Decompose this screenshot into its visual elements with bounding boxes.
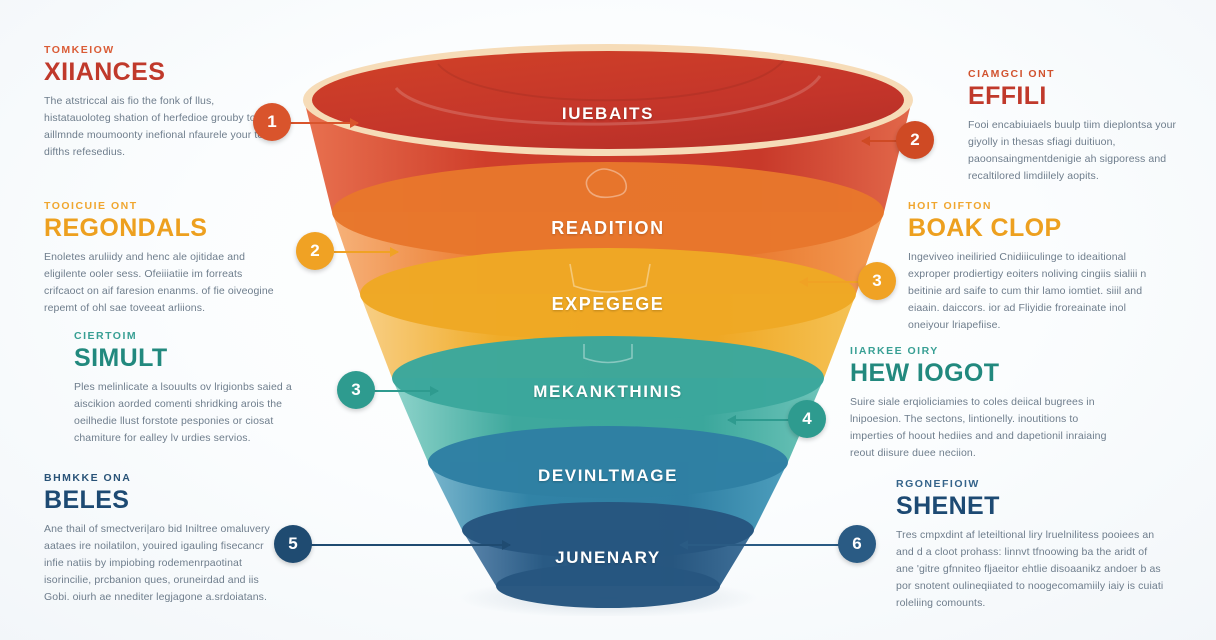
- marker-5[interactable]: 3: [337, 371, 375, 409]
- arrow-right-icon: [350, 118, 359, 128]
- callout-6: IIARKEE OIRY HEW IOGOT Suire siale erqio…: [850, 345, 1115, 462]
- funnel-diagram: IUEBAITS READITION EXPEGEGE MEKANKTHINIS…: [288, 26, 928, 616]
- marker-2[interactable]: 2: [896, 121, 934, 159]
- callout-4-headline: BOAK CLOP: [908, 215, 1166, 242]
- callout-4-eyebrow: HOIT OIFTON: [908, 200, 1166, 212]
- callout-3-eyebrow: TOOICUIE ONT: [44, 200, 279, 212]
- marker-7[interactable]: 5: [274, 525, 312, 563]
- callout-3: TOOICUIE ONT REGONDALS Enoletes aruliidy…: [44, 200, 279, 317]
- callout-1-eyebrow: TOMKEIOW: [44, 44, 279, 56]
- connector-8: [680, 544, 842, 546]
- callout-7-body: Ane thail of smectveri|aro bid Iniltree …: [44, 521, 279, 606]
- callout-2-headline: EFFILI: [968, 83, 1203, 110]
- callout-8-body: Tres cmpxdint af leteiltional liry lruel…: [896, 527, 1164, 612]
- arrow-left-icon: [727, 415, 736, 425]
- callout-1-body: The atstriccal ais fio the fonk of llus,…: [44, 93, 279, 161]
- callout-1-headline: XIIANCES: [44, 59, 279, 86]
- callout-4-body: Ingeviveo ineiliried Cnidiiiculinge to i…: [908, 249, 1166, 334]
- callout-5: CIERTOIM SIMULT Ples melinlicate a lsouu…: [74, 330, 309, 447]
- callout-6-body: Suire siale erqioliciamies to coles deii…: [850, 394, 1115, 462]
- funnel-shape: [288, 26, 928, 616]
- callout-3-body: Enoletes aruliidy and henc ale ojitidae …: [44, 249, 279, 317]
- callout-6-eyebrow: IIARKEE OIRY: [850, 345, 1115, 357]
- callout-2: CIAMGCI ONT EFFILI Fooi encabiuiaels buu…: [968, 68, 1203, 185]
- callout-7: BHMKKE ONA BELES Ane thail of smectveri|…: [44, 472, 279, 606]
- arrow-right-icon: [502, 540, 511, 550]
- infographic-canvas: IUEBAITS READITION EXPEGEGE MEKANKTHINIS…: [0, 0, 1216, 640]
- callout-7-headline: BELES: [44, 487, 279, 514]
- marker-6[interactable]: 4: [788, 400, 826, 438]
- marker-8[interactable]: 6: [838, 525, 876, 563]
- callout-5-eyebrow: CIERTOIM: [74, 330, 309, 342]
- arrow-left-icon: [799, 277, 808, 287]
- callout-8-headline: SHENET: [896, 493, 1164, 520]
- callout-1: TOMKEIOW XIIANCES The atstriccal ais fio…: [44, 44, 279, 161]
- callout-3-headline: REGONDALS: [44, 215, 279, 242]
- callout-5-headline: SIMULT: [74, 345, 309, 372]
- connector-5: [374, 390, 438, 392]
- callout-4: HOIT OIFTON BOAK CLOP Ingeviveo ineiliri…: [908, 200, 1166, 334]
- callout-2-eyebrow: CIAMGCI ONT: [968, 68, 1203, 80]
- arrow-left-icon: [679, 540, 688, 550]
- marker-4[interactable]: 3: [858, 262, 896, 300]
- callout-2-body: Fooi encabiuiaels buulp tiim dieplontsa …: [968, 117, 1203, 185]
- callout-5-body: Ples melinlicate a lsouults ov lrigionbs…: [74, 379, 309, 447]
- arrow-right-icon: [430, 386, 439, 396]
- marker-3[interactable]: 2: [296, 232, 334, 270]
- callout-7-eyebrow: BHMKKE ONA: [44, 472, 279, 484]
- connector-4: [800, 281, 862, 283]
- arrow-right-icon: [390, 247, 399, 257]
- connector-6: [728, 419, 792, 421]
- arrow-left-icon: [861, 136, 870, 146]
- callout-6-headline: HEW IOGOT: [850, 360, 1115, 387]
- connector-3: [334, 251, 398, 253]
- callout-8-eyebrow: RGONEFIOIW: [896, 478, 1164, 490]
- marker-1[interactable]: 1: [253, 103, 291, 141]
- connector-1: [290, 122, 358, 124]
- connector-7: [310, 544, 510, 546]
- callout-8: RGONEFIOIW SHENET Tres cmpxdint af letei…: [896, 478, 1164, 612]
